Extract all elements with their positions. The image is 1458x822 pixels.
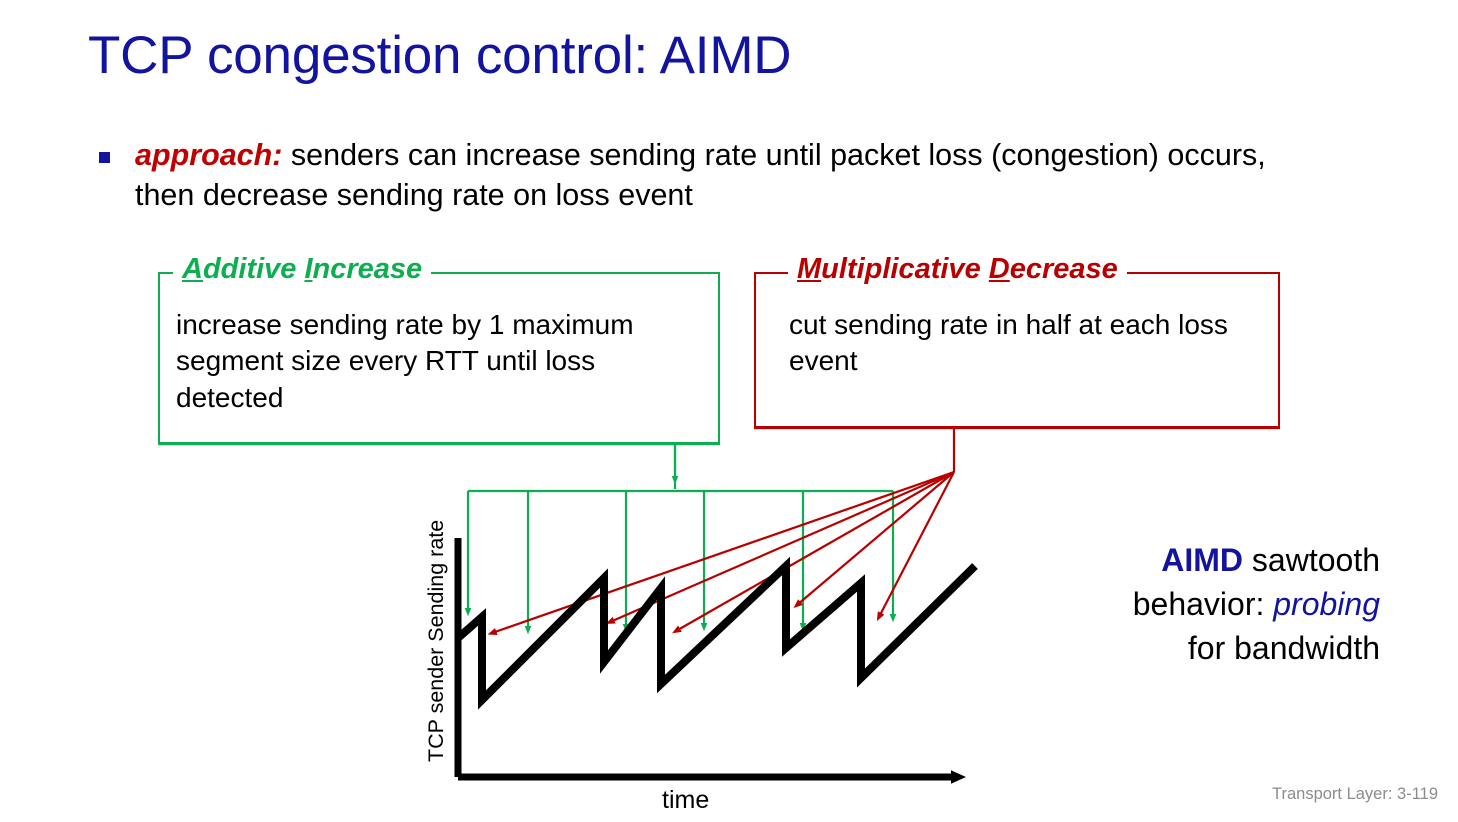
multiplicative-decrease-body: cut sending rate in half at each loss ev… [789,307,1259,380]
chart-axes [458,538,958,777]
additive-increase-legend-rest2: ncrease [313,253,423,285]
page-title: TCP congestion control: AIMD [88,28,791,84]
arrow-to-loss-3 [676,472,954,631]
additive-increase-legend-a: A [182,253,203,285]
arrow-to-loss-1 [492,472,954,633]
multiplicative-decrease-legend: Multiplicative Decrease [788,255,1127,284]
caption-line3: for bandwidth [1188,630,1380,666]
caption-probing-term: probing [1273,586,1380,622]
arrow-to-loss-2 [610,472,954,622]
bullet-lead-term: approach: [135,138,282,172]
sawtooth-polyline [458,566,975,700]
additive-increase-legend-i: I [304,253,312,285]
caption-aimd-term: AIMD [1161,542,1243,578]
additive-increase-body: increase sending rate by 1 maximum segme… [176,307,706,416]
square-bullet-icon [99,152,110,163]
additive-increase-box: Additive Increase increase sending rate … [158,272,720,444]
multiplicative-decrease-box: Multiplicative Decrease cut sending rate… [754,272,1280,428]
sawtooth-series [458,566,975,700]
sawtooth-caption: AIMD sawtooth behavior: probing for band… [1030,538,1380,670]
additive-increase-connectors [158,444,893,630]
caption-line2-plain: behavior: [1133,586,1274,622]
bullet-body-text: senders can increase sending rate until … [135,138,1266,212]
bullet-item-text: approach: senders can increase sending r… [135,136,1285,215]
arrow-to-loss-4 [797,472,954,605]
additive-increase-legend: Additive Increase [173,255,431,284]
slide-canvas: TCP congestion control: AIMD approach: s… [0,0,1458,822]
y-axis-label: TCP sender Sending rate [424,520,449,762]
caption-line1-rest: sawtooth [1243,542,1380,578]
multiplicative-decrease-legend-rest2: ecrease [1010,253,1118,285]
arrow-to-loss-5 [879,472,954,617]
x-axis-label: time [662,786,709,815]
multiplicative-decrease-legend-rest1: ultiplicative [821,253,989,285]
slide-footer: Transport Layer: 3-119 [1272,785,1438,804]
multiplicative-decrease-legend-d: D [989,253,1010,285]
additive-increase-legend-rest1: dditive [203,253,305,285]
multiplicative-decrease-legend-m: M [797,253,821,285]
